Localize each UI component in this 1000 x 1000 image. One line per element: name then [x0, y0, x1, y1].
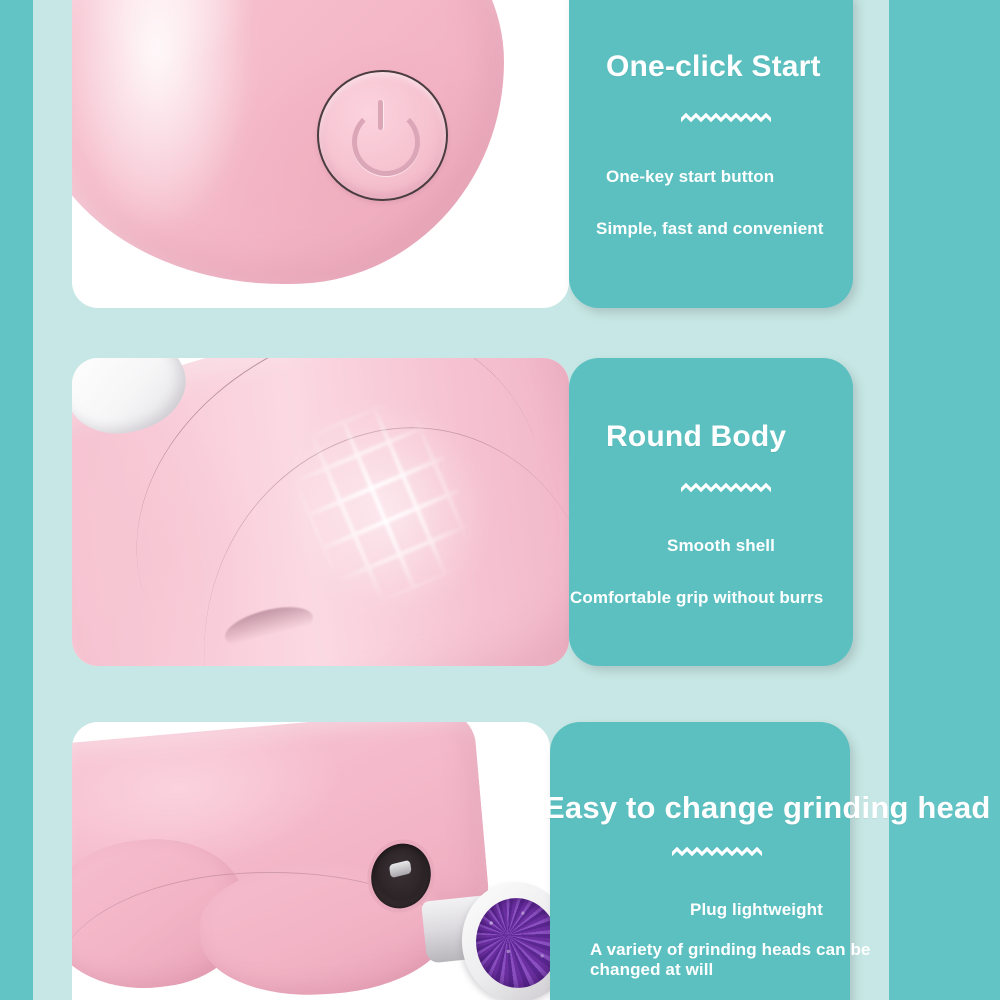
- feature-text-panel: One-click Start One-key start button Sim…: [569, 0, 853, 308]
- zigzag-divider-icon: [681, 112, 771, 124]
- feature-text-panel: Round Body Smooth shell Comfortable grip…: [569, 358, 853, 666]
- socket-metal-pin: [389, 860, 412, 878]
- infographic-canvas: One-click Start One-key start button Sim…: [0, 0, 1000, 1000]
- power-button[interactable]: [317, 70, 448, 201]
- panel-subtitle-2: Comfortable grip without burrs: [570, 588, 823, 608]
- panel-title: Easy to change grinding head: [544, 790, 991, 826]
- zigzag-divider-icon: [672, 846, 762, 858]
- panel-subtitle-2: A variety of grinding heads can be chang…: [590, 940, 920, 980]
- background-strip-left: [0, 0, 33, 1000]
- panel-subtitle-1: One-key start button: [606, 167, 774, 187]
- product-photo-power-button: [72, 0, 569, 308]
- panel-title: One-click Start: [606, 50, 821, 84]
- panel-subtitle-1: Smooth shell: [667, 536, 775, 556]
- feature-card-round-body: Round Body Smooth shell Comfortable grip…: [72, 358, 850, 666]
- feature-text-panel: Easy to change grinding head Plug lightw…: [550, 722, 850, 1000]
- product-photo-round-body: [72, 358, 569, 666]
- background-strip-right: [889, 0, 1000, 1000]
- power-icon: [352, 102, 414, 164]
- panel-subtitle-2: Simple, fast and convenient: [596, 219, 824, 239]
- feature-card-change-grinding-head: Easy to change grinding head Plug lightw…: [72, 722, 862, 1000]
- zigzag-divider-icon: [681, 482, 771, 494]
- panel-subtitle-1: Plug lightweight: [690, 900, 823, 920]
- feature-card-one-click-start: One-click Start One-key start button Sim…: [72, 0, 850, 308]
- product-photo-grinding-head: [72, 722, 550, 1000]
- grinding-head-abrasive-surface: [470, 893, 550, 994]
- panel-title: Round Body: [606, 420, 786, 454]
